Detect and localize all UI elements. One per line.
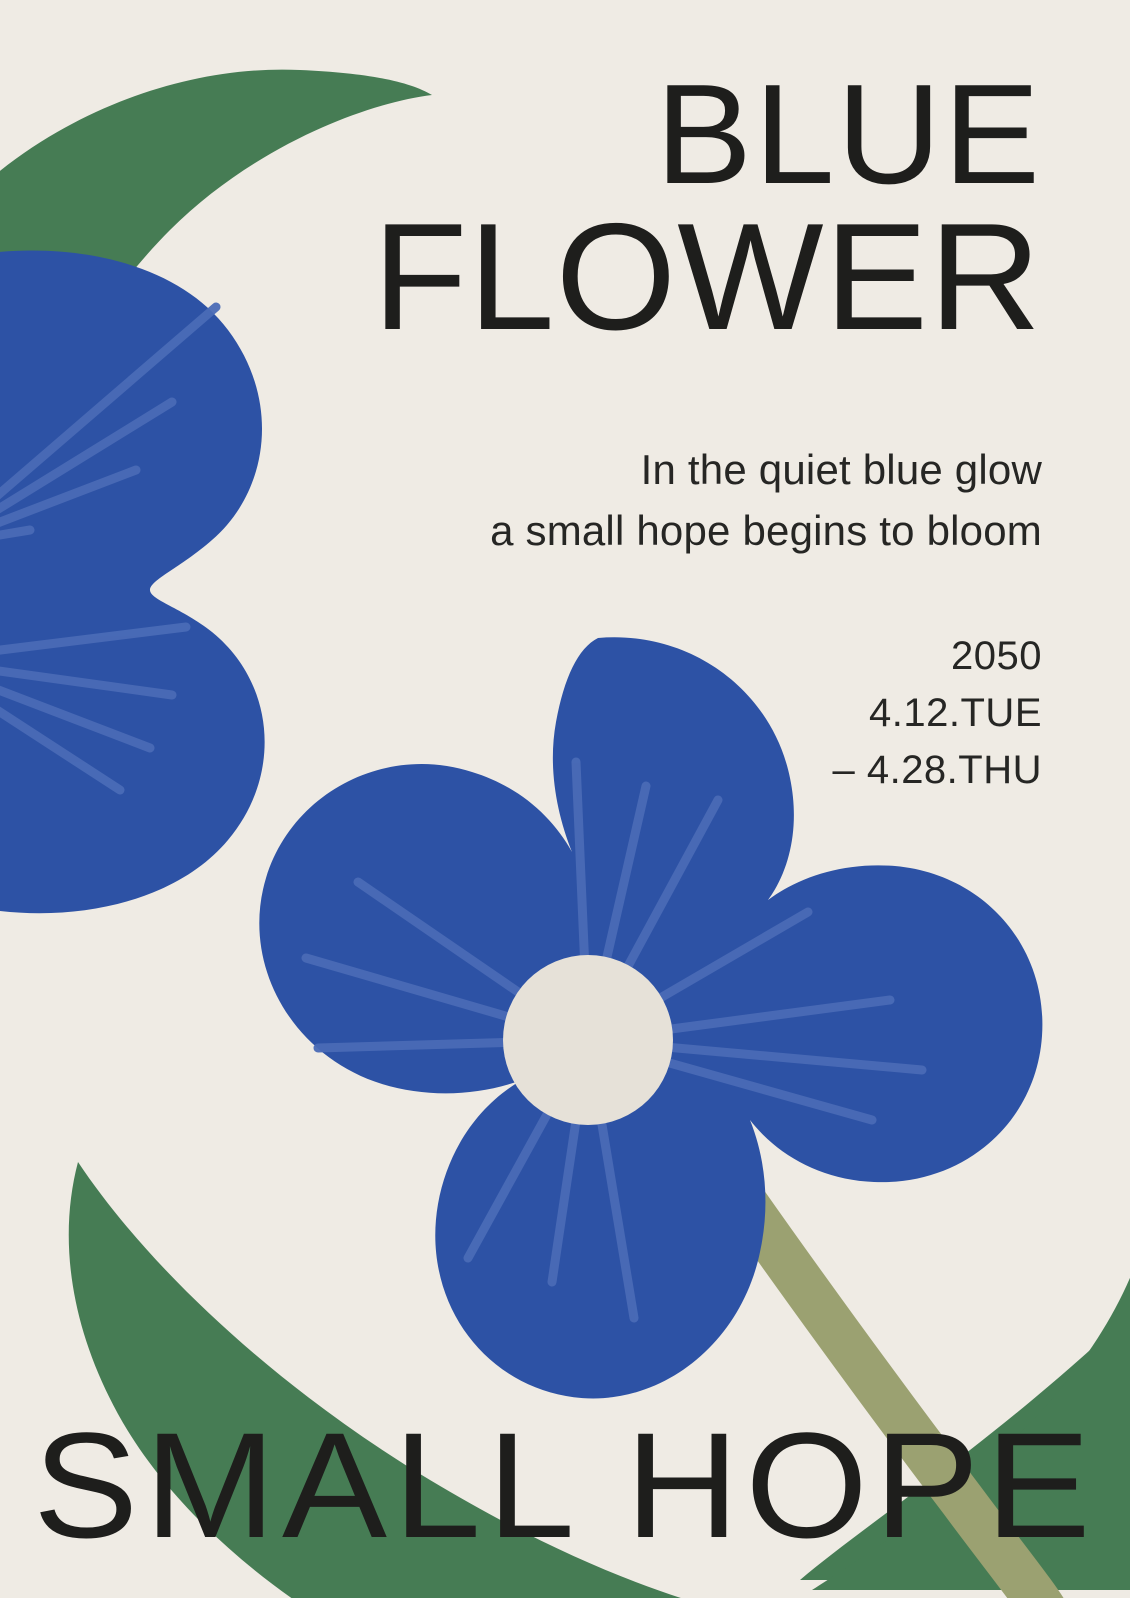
bottom-wordmark: SMALL HOPE bbox=[0, 1410, 1130, 1560]
exhibition-dates: 2050 4.12.TUE – 4.28.THU bbox=[832, 628, 1042, 798]
poster-text-layer: BLUE FLOWER In the quiet blue glow a sma… bbox=[0, 0, 1130, 1598]
subtitle: In the quiet blue glow a small hope begi… bbox=[282, 440, 1042, 562]
date-end: – 4.28.THU bbox=[832, 742, 1042, 799]
title-line-1: BLUE bbox=[308, 66, 1042, 204]
date-start: 4.12.TUE bbox=[832, 685, 1042, 742]
date-year: 2050 bbox=[832, 628, 1042, 685]
subtitle-line-1: In the quiet blue glow bbox=[282, 440, 1042, 501]
page-title: BLUE FLOWER bbox=[322, 66, 1042, 351]
poster-canvas: BLUE FLOWER In the quiet blue glow a sma… bbox=[0, 0, 1130, 1598]
subtitle-line-2: a small hope begins to bloom bbox=[282, 501, 1042, 562]
title-line-2: FLOWER bbox=[308, 204, 1042, 351]
